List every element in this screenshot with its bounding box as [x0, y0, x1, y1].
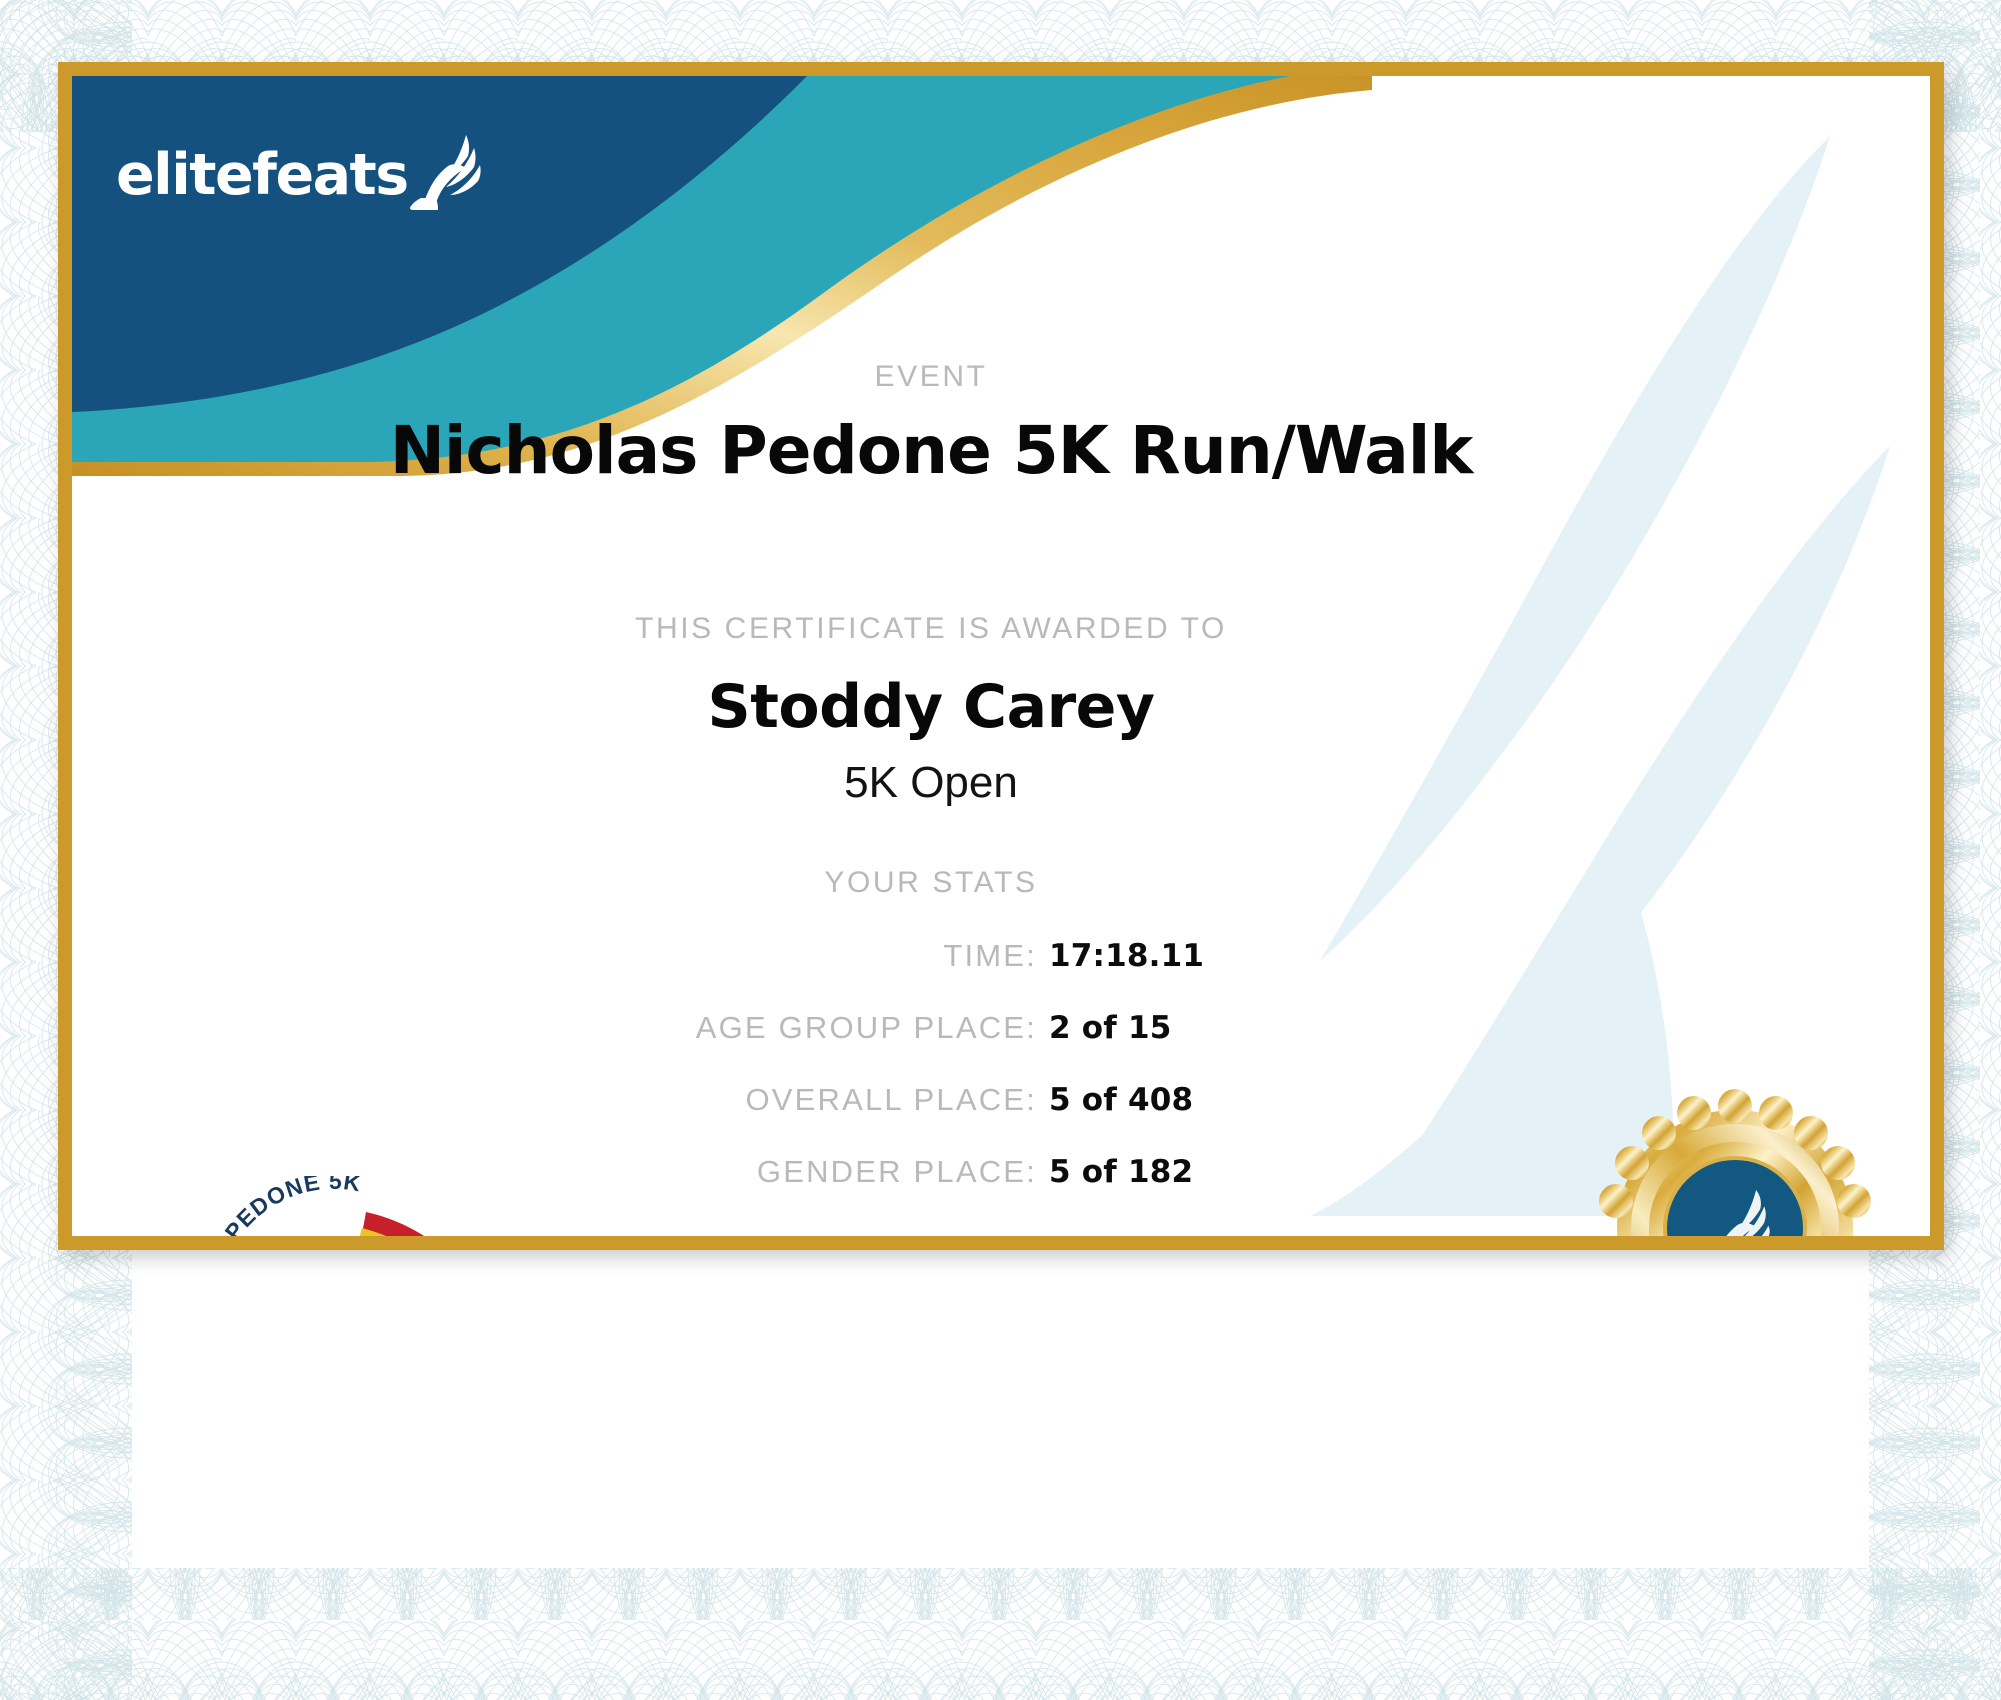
division-label: 5K Open [844, 758, 1018, 808]
recipient-name-row: Stoddy Carey [72, 672, 1930, 742]
svg-text:NICHOLAS PEDONE 5K: NICHOLAS PEDONE 5K [220, 1176, 363, 1250]
finisher-medal-block: 2025 [1570, 1076, 1900, 1250]
stat-label-age-group-place: AGE GROUP PLACE: [372, 1010, 1037, 1046]
stat-value-gender-place: 5 of 182 [1049, 1154, 1193, 1190]
stat-value-time: 17:18.11 [1049, 938, 1204, 974]
finisher-medal-icon: 2025 [1570, 1076, 1900, 1250]
stat-row-age-group-place: AGE GROUP PLACE: 2 of 15 [372, 1010, 1332, 1046]
awarded-label-row: THIS CERTIFICATE IS AWARDED TO [72, 612, 1930, 646]
stat-label-time: TIME: [372, 938, 1037, 974]
race-logo-hashtag: #GoGold [370, 1248, 464, 1250]
stat-row-overall-place: OVERALL PLACE: 5 of 408 [372, 1082, 1332, 1118]
stats-label-row: YOUR STATS [72, 866, 1930, 900]
stat-value-age-group-place: 2 of 15 [1049, 1010, 1171, 1046]
event-label: EVENT [874, 360, 987, 394]
race-logo-arc-text: NICHOLAS PEDONE 5K [220, 1176, 363, 1250]
event-title-row: Nicholas Pedone 5K Run/Walk [72, 412, 1930, 489]
stat-value-overall-place: 5 of 408 [1049, 1082, 1193, 1118]
stat-row-gender-place: GENDER PLACE: 5 of 182 [372, 1154, 1332, 1190]
race-event-logo: NICHOLAS PEDONE 5K 12 th ANNUAL #GoGold … [220, 1176, 488, 1250]
awarded-to-label: THIS CERTIFICATE IS AWARDED TO [635, 612, 1227, 646]
certificate-card: elitefeats EVENT Nicholas Pedone 5K Run/… [58, 62, 1944, 1250]
stat-row-time: TIME: 17:18.11 [372, 938, 1332, 974]
division-row: 5K Open [72, 758, 1930, 808]
recipient-name: Stoddy Carey [708, 672, 1155, 742]
race-logo-number: 12 [250, 1248, 328, 1250]
stats-list: TIME: 17:18.11 AGE GROUP PLACE: 2 of 15 … [372, 938, 1332, 1226]
event-title: Nicholas Pedone 5K Run/Walk [390, 412, 1473, 489]
stat-label-overall-place: OVERALL PLACE: [372, 1082, 1037, 1118]
event-label-row: EVENT [72, 360, 1930, 394]
your-stats-label: YOUR STATS [824, 866, 1037, 900]
certificate-body: EVENT Nicholas Pedone 5K Run/Walk THIS C… [72, 76, 1930, 1236]
